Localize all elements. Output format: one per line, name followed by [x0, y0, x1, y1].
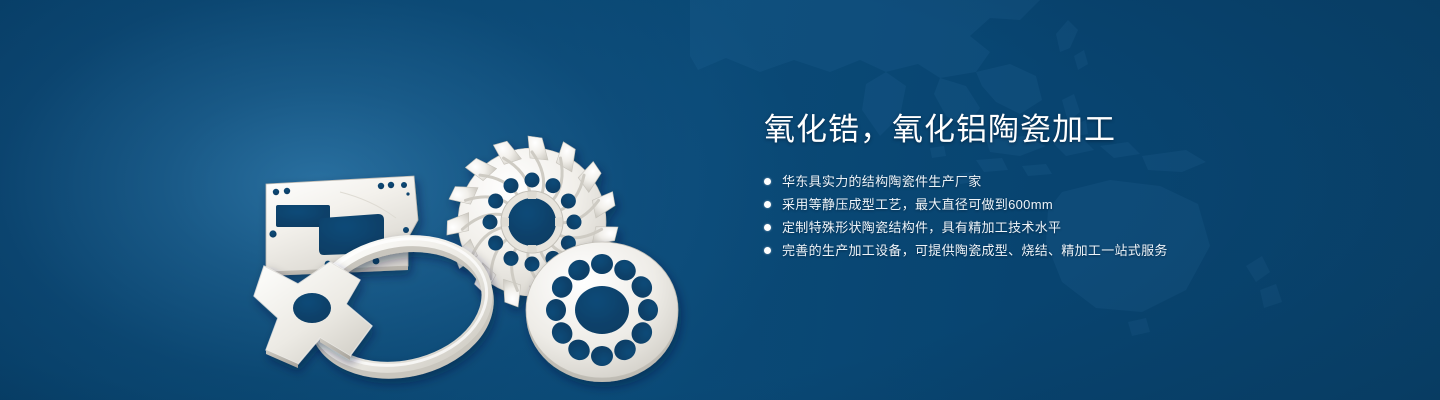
bullet-dot-icon: [764, 178, 771, 185]
bullet-dot-icon: [764, 224, 771, 231]
feature-list-item: 华东具实力的结构陶瓷件生产厂家: [764, 174, 1364, 189]
feature-list-item: 定制特殊形状陶瓷结构件，具有精加工技术水平: [764, 220, 1364, 235]
feature-text: 定制特殊形状陶瓷结构件，具有精加工技术水平: [782, 220, 1061, 235]
feature-text: 完善的生产加工设备，可提供陶瓷成型、烧结、精加工一站式服务: [782, 243, 1168, 258]
feature-list-item: 完善的生产加工设备，可提供陶瓷成型、烧结、精加工一站式服务: [764, 243, 1364, 258]
feature-list: 华东具实力的结构陶瓷件生产厂家 采用等静压成型工艺，最大直径可做到600mm 定…: [764, 174, 1364, 258]
hero-banner: 氧化锆，氧化铝陶瓷加工 华东具实力的结构陶瓷件生产厂家 采用等静压成型工艺，最大…: [0, 0, 1440, 400]
banner-headline: 氧化锆，氧化铝陶瓷加工: [764, 110, 1364, 150]
bullet-dot-icon: [764, 247, 771, 254]
banner-copy: 氧化锆，氧化铝陶瓷加工 华东具实力的结构陶瓷件生产厂家 采用等静压成型工艺，最大…: [764, 110, 1364, 266]
feature-text: 采用等静压成型工艺，最大直径可做到600mm: [782, 197, 1053, 212]
bullet-dot-icon: [764, 201, 771, 208]
feature-list-item: 采用等静压成型工艺，最大直径可做到600mm: [764, 197, 1364, 212]
feature-text: 华东具实力的结构陶瓷件生产厂家: [782, 174, 982, 189]
